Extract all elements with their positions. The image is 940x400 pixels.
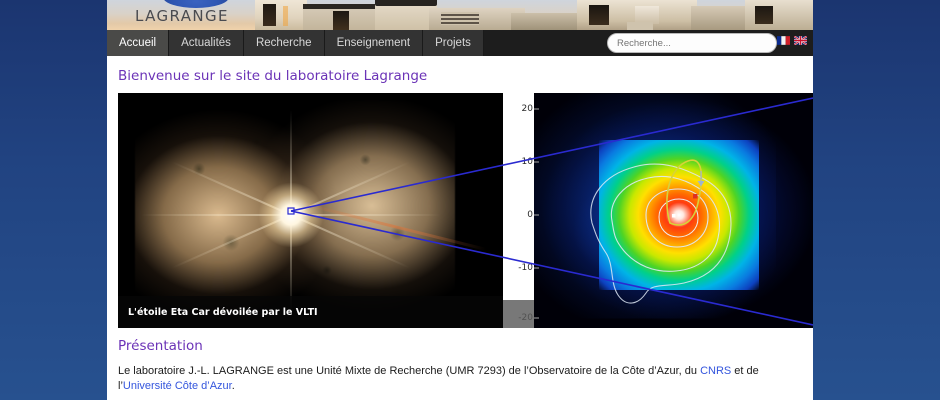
vlti-interferometric-reconstruction[interactable] <box>534 93 813 328</box>
y-tick-mark <box>534 318 539 319</box>
telescope-building <box>511 13 581 30</box>
nav-item-projets[interactable]: Projets <box>423 30 484 56</box>
logo-text: LAGRANGE <box>135 7 255 25</box>
welcome-title: Bienvenue sur le site du laboratoire Lag… <box>107 56 813 93</box>
axis-strip-shade <box>503 300 534 328</box>
telescope-building <box>303 4 381 30</box>
site-page-container: LAGRANGE Accueil Actualités Recherche En… <box>107 0 813 400</box>
y-tick-label: 0 <box>527 210 533 220</box>
telescope-building <box>745 0 813 30</box>
flag-en-icon[interactable] <box>794 36 807 45</box>
search-input[interactable] <box>607 33 777 53</box>
flag-fr-icon[interactable] <box>777 36 790 45</box>
language-switcher <box>777 36 807 45</box>
y-axis-strip: 20 10 0 -10 -20 <box>503 93 534 328</box>
eta-carinae-nebula-image[interactable]: L'étoile Eta Car dévoilée par le VLTI <box>118 93 503 328</box>
paragraph-text-part: Le laboratoire J.-L. LAGRANGE est une Un… <box>118 365 700 377</box>
companion-marker <box>693 194 698 199</box>
y-tick-label: -10 <box>518 263 533 273</box>
main-navigation: Accueil Actualités Recherche Enseignemen… <box>107 30 813 56</box>
y-tick-mark <box>534 268 539 269</box>
primary-star-marker <box>672 214 676 218</box>
search-box <box>607 33 777 53</box>
header-banner: LAGRANGE <box>107 0 813 30</box>
figure-caption-bar: L'étoile Eta Car dévoilée par le VLTI <box>118 296 503 328</box>
y-tick-mark <box>534 109 539 110</box>
nav-item-accueil[interactable]: Accueil <box>107 30 169 56</box>
central-star-glow <box>259 183 323 247</box>
nav-item-enseignement[interactable]: Enseignement <box>325 30 424 56</box>
homepage-figure: L'étoile Eta Car dévoilée par le VLTI 20… <box>118 93 813 328</box>
universite-cote-azur-link[interactable]: Université Côte d’Azur <box>123 380 232 392</box>
presentation-title: Présentation <box>107 328 813 364</box>
y-tick-label: 10 <box>522 157 533 167</box>
cnrs-link[interactable]: CNRS <box>700 365 731 377</box>
telescope-building <box>691 6 751 30</box>
paragraph-text-part: . <box>232 380 235 392</box>
site-logo[interactable]: LAGRANGE <box>135 0 255 30</box>
figure-caption: L'étoile Eta Car dévoilée par le VLTI <box>118 307 318 318</box>
contour-overlay <box>534 93 813 328</box>
equipment-crate <box>627 22 653 30</box>
nav-item-recherche[interactable]: Recherche <box>244 30 325 56</box>
y-tick-mark <box>534 215 539 216</box>
y-tick-label: 20 <box>522 104 533 114</box>
telescope-building <box>375 0 437 30</box>
telescope-building <box>255 0 307 30</box>
nav-item-actualites[interactable]: Actualités <box>169 30 244 56</box>
page-content: Bienvenue sur le site du laboratoire Lag… <box>107 56 813 400</box>
y-tick-mark <box>534 162 539 163</box>
presentation-paragraph: Le laboratoire J.-L. LAGRANGE est une Un… <box>107 364 813 394</box>
